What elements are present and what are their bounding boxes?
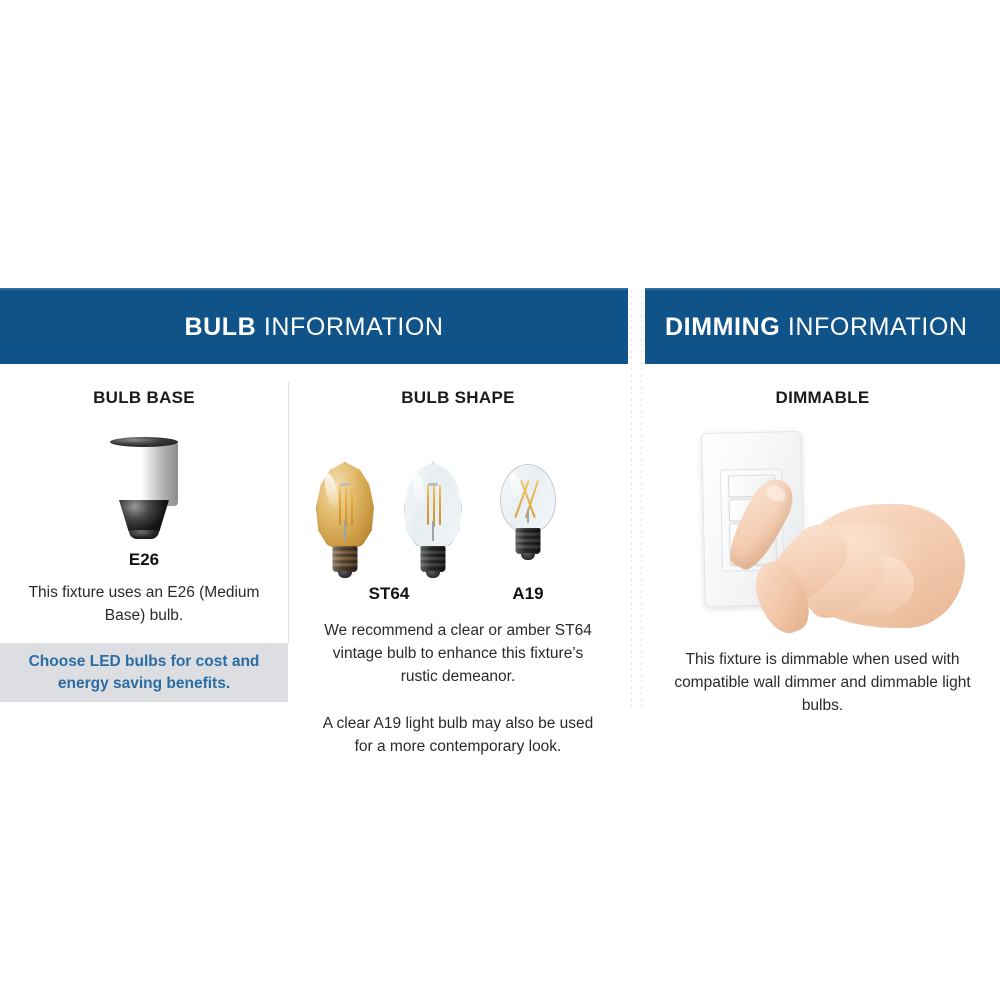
a19-glass (500, 464, 556, 532)
a19-screw-base (516, 528, 541, 554)
bulb-information-header: BULB INFORMATION (0, 288, 628, 364)
a19-bulb-icon (500, 464, 556, 532)
bulb-shape-column: BULB SHAPE (288, 364, 628, 759)
e26-contact-tip (129, 530, 159, 539)
st64-clear-bulb-icon (404, 462, 462, 550)
dimming-header-bold-word: DIMMING (665, 313, 780, 341)
hand-icon (741, 476, 963, 638)
st64-clear-contact-tip (426, 571, 440, 578)
e26-threads (110, 440, 178, 506)
bulb-shape-section-title: BULB SHAPE (288, 388, 628, 408)
dimmer-switch-illustration (645, 422, 1000, 637)
st64-clear-screw-base (421, 546, 446, 572)
bulb-base-label-e26: E26 (0, 550, 288, 570)
filament-stem (432, 521, 434, 541)
bulb-shape-label-a19: A19 (483, 584, 573, 604)
led-recommendation-text: Choose LED bulbs for cost and energy sav… (25, 651, 263, 695)
bulb-information-title: BULB INFORMATION (184, 313, 443, 342)
bulb-shape-labels: ST64 A19 (288, 584, 628, 610)
bulb-base-section-title: BULB BASE (0, 388, 288, 408)
st64-clear-glass (404, 462, 462, 550)
bulb-shape-paragraph-1: We recommend a clear or amber ST64 vinta… (315, 620, 601, 689)
dimming-information-panel: DIMMING INFORMATION DIMMABLE This fixtur… (645, 288, 1000, 718)
panel-separator-right (641, 290, 642, 710)
filament-strand (427, 485, 429, 525)
filament-stem (344, 521, 346, 541)
filament-strand (439, 485, 441, 525)
a19-contact-tip (521, 553, 535, 560)
e26-base-icon (105, 440, 183, 536)
bulb-base-description: This fixture uses an E26 (Medium Base) b… (28, 582, 260, 628)
bulb-shape-paragraph-2: A clear A19 light bulb may also be used … (312, 713, 604, 759)
bulb-information-panel: BULB INFORMATION BULB BASE E26 This fixt… (0, 288, 628, 759)
dimming-header-light-word: INFORMATION (788, 313, 968, 341)
bulb-shape-label-st64: ST64 (344, 584, 434, 604)
filament-strand (339, 485, 341, 525)
panel-separator-left (631, 290, 632, 710)
filament-stem (527, 509, 529, 523)
e26-top-rim (110, 437, 178, 447)
dimming-information-header: DIMMING INFORMATION (645, 288, 1000, 364)
glass-highlight (322, 473, 340, 511)
dimmable-section-title: DIMMABLE (645, 388, 1000, 408)
bulb-shape-illustrations (288, 420, 628, 550)
st64-amber-contact-tip (338, 571, 352, 578)
st64-amber-bulb-icon (316, 462, 374, 550)
led-recommendation-box: Choose LED bulbs for cost and energy sav… (0, 643, 288, 702)
dimmable-description: This fixture is dimmable when used with … (673, 649, 973, 718)
bulb-header-bold-word: BULB (184, 313, 256, 341)
bulb-header-light-word: INFORMATION (264, 313, 444, 341)
st64-amber-glass (316, 462, 374, 550)
glass-highlight (410, 473, 428, 511)
filament-strand (351, 485, 353, 525)
st64-amber-screw-base (333, 546, 358, 572)
dimming-information-title: DIMMING INFORMATION (665, 313, 968, 342)
e26-base-illustration-wrap (0, 424, 288, 536)
